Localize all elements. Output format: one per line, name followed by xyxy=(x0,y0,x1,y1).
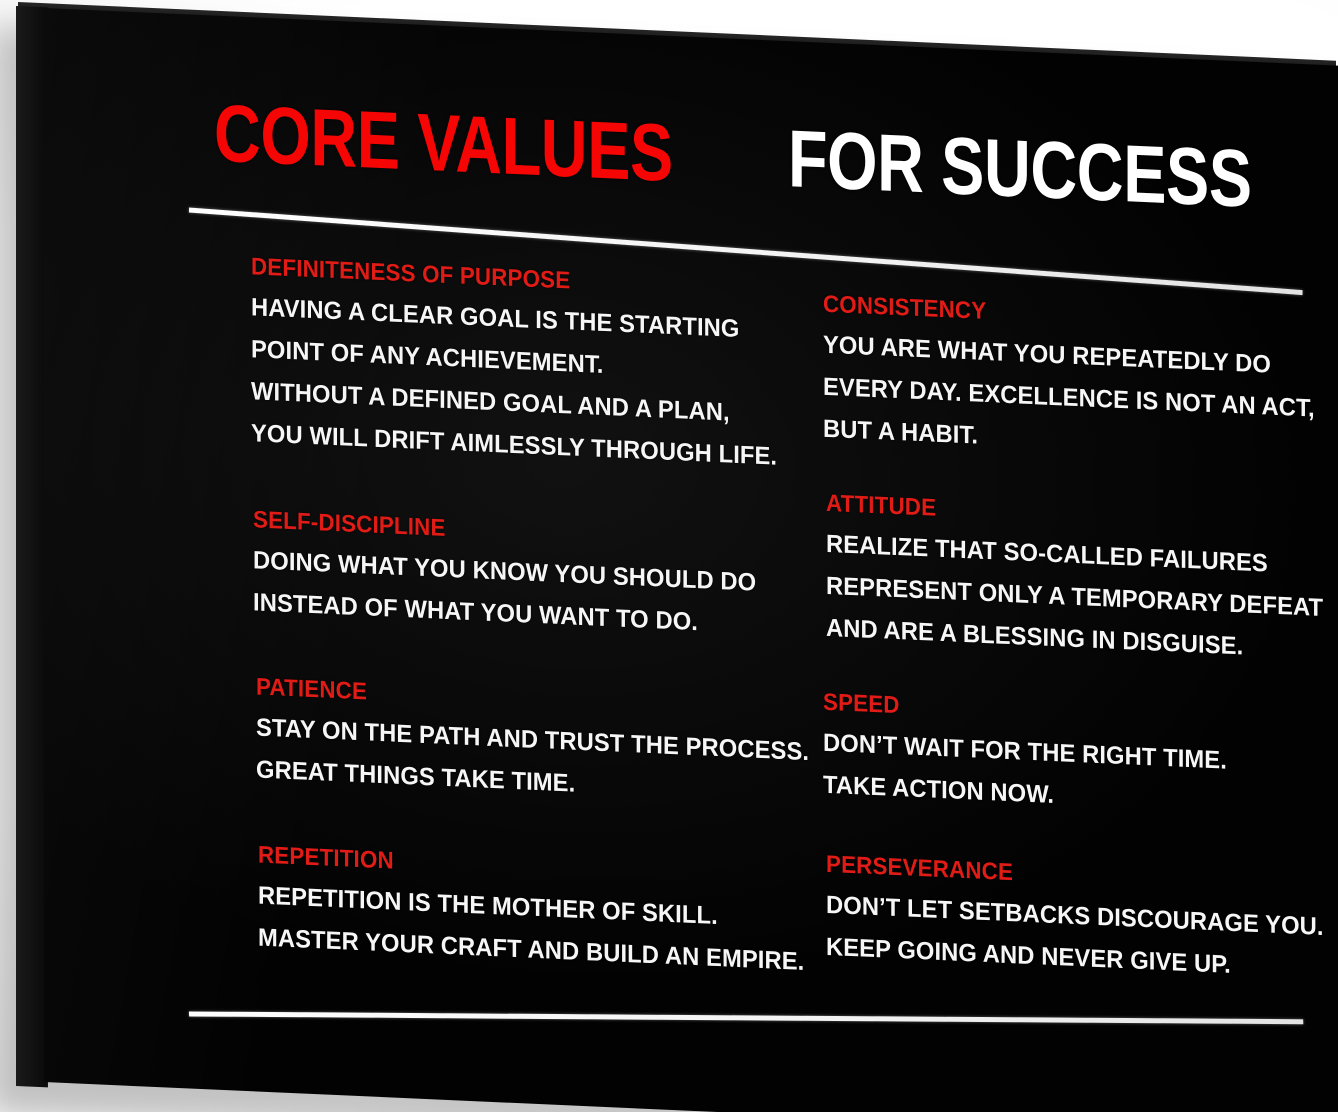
value-line: INSTEAD OF WHAT YOU WANT TO DO. xyxy=(253,588,756,639)
value-block-speed: SPEED DON’T WAIT FOR THE RIGHT TIME. TAK… xyxy=(823,689,1248,819)
value-line: REALIZE THAT SO-CALLED FAILURES xyxy=(826,530,1323,581)
value-heading: CONSISTENCY xyxy=(823,291,1304,340)
value-line: GREAT THINGS TAKE TIME. xyxy=(256,755,809,809)
value-block-attitude: ATTITUDE REALIZE THAT SO-CALLED FAILURES… xyxy=(826,490,1338,666)
value-block-consistency: CONSISTENCY YOU ARE WHAT YOU REPEATEDLY … xyxy=(823,291,1338,467)
value-block-perseverance: PERSEVERANCE DON’T LET SETBACKS DISCOURA… xyxy=(826,851,1338,985)
value-line: DOING WHAT YOU KNOW YOU SHOULD DO xyxy=(253,546,756,597)
value-block-definiteness-of-purpose: DEFINITENESS OF PURPOSE HAVING A CLEAR G… xyxy=(251,253,805,473)
values-column-left: DEFINITENESS OF PURPOSE HAVING A CLEAR G… xyxy=(251,253,751,275)
canvas-artwork: CORE VALUESFOR SUCCESS DEFINITENESS OF P… xyxy=(0,0,1338,1112)
value-line: AND ARE A BLESSING IN DISGUISE. xyxy=(826,614,1323,665)
value-heading: PERSEVERANCE xyxy=(826,851,1313,901)
value-line: MASTER YOUR CRAFT AND BUILD AN EMPIRE. xyxy=(258,924,804,977)
canvas-print-stage: CORE VALUESFOR SUCCESS DEFINITENESS OF P… xyxy=(0,0,1338,1112)
values-column-right: CONSISTENCY YOU ARE WHAT YOU REPEATEDLY … xyxy=(823,291,1243,310)
value-block-repetition: REPETITION REPETITION IS THE MOTHER OF S… xyxy=(258,842,833,979)
value-line: BUT A HABIT. xyxy=(823,415,1315,466)
value-line: KEEP GOING AND NEVER GIVE UP. xyxy=(826,933,1324,984)
value-line: YOU ARE WHAT YOU REPEATEDLY DO xyxy=(823,331,1315,382)
value-line: TAKE ACTION NOW. xyxy=(823,771,1227,818)
value-block-self-discipline: SELF-DISCIPLINE DOING WHAT YOU KNOW YOU … xyxy=(253,506,783,641)
value-line: EVERY DAY. EXCELLENCE IS NOT AN ACT, xyxy=(823,373,1315,424)
value-line: YOU WILL DRIFT AIMLESSLY THROUGH LIFE. xyxy=(251,419,777,471)
divider-rule-bottom xyxy=(189,1011,1303,1024)
value-block-patience: PATIENCE STAY ON THE PATH AND TRUST THE … xyxy=(256,673,838,810)
value-line: DON’T LET SETBACKS DISCOURAGE YOU. xyxy=(826,891,1324,942)
page-title: CORE VALUESFOR SUCCESS xyxy=(214,94,1294,223)
title-for-success: FOR SUCCESS xyxy=(788,119,1252,221)
poster-content: CORE VALUESFOR SUCCESS DEFINITENESS OF P… xyxy=(44,8,1338,1112)
value-heading: ATTITUDE xyxy=(826,490,1313,540)
value-line: REPRESENT ONLY A TEMPORARY DEFEAT xyxy=(826,572,1323,623)
value-line: DON’T WAIT FOR THE RIGHT TIME. xyxy=(823,729,1227,776)
title-core-values: CORE VALUES xyxy=(214,94,673,195)
value-heading: SPEED xyxy=(823,689,1218,735)
canvas-front-face: CORE VALUESFOR SUCCESS DEFINITENESS OF P… xyxy=(44,8,1338,1112)
